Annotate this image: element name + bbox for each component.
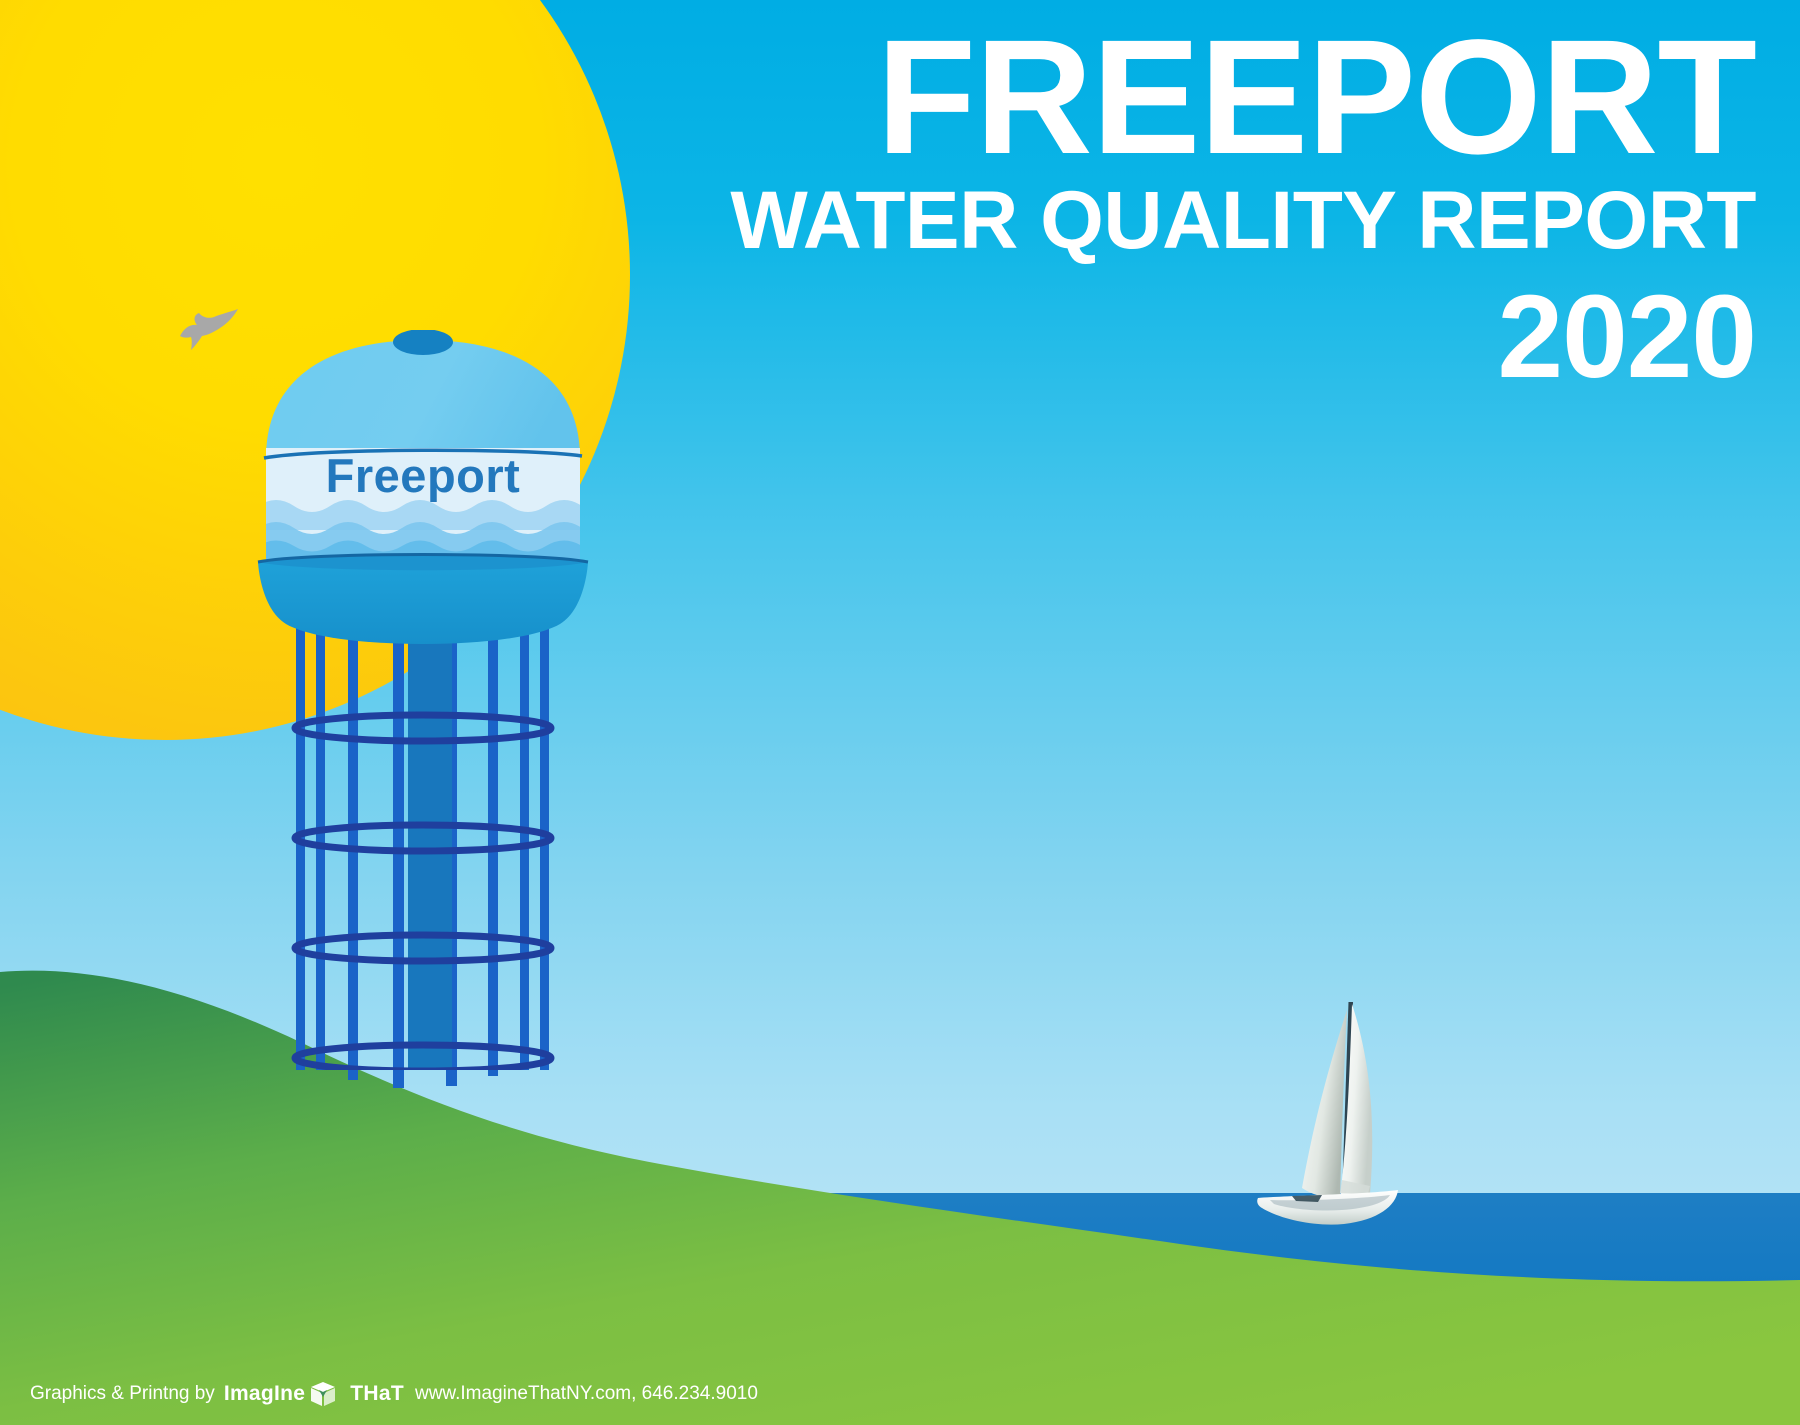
imaginethat-logo-right: THaT <box>350 1382 404 1406</box>
footer-website-text: www.ImagineThatNY.com, 646.234.9010 <box>415 1383 758 1405</box>
page-title: FREEPORT <box>730 22 1756 172</box>
water-tower-graphic <box>248 330 598 1070</box>
seagull-icon <box>178 306 240 352</box>
imaginethat-logo-left: ImagIne <box>224 1382 305 1406</box>
page-subtitle: WATER QUALITY REPORT <box>730 178 1756 264</box>
tower-name-label: Freeport <box>248 452 598 499</box>
footer-credit-bar: Graphics & Printng by ImagIne THaT www.I… <box>30 1381 758 1407</box>
headline-block: FREEPORT WATER QUALITY REPORT 2020 <box>730 22 1756 396</box>
cube-logo-icon <box>310 1381 336 1407</box>
footer-credit-text: Graphics & Printng by <box>30 1383 215 1405</box>
water-tower: Freeport <box>248 330 598 1070</box>
report-year: 2020 <box>730 278 1756 396</box>
poster-canvas: Freeport FREEPORT WATER QUALITY REPORT 2… <box>0 0 1800 1425</box>
